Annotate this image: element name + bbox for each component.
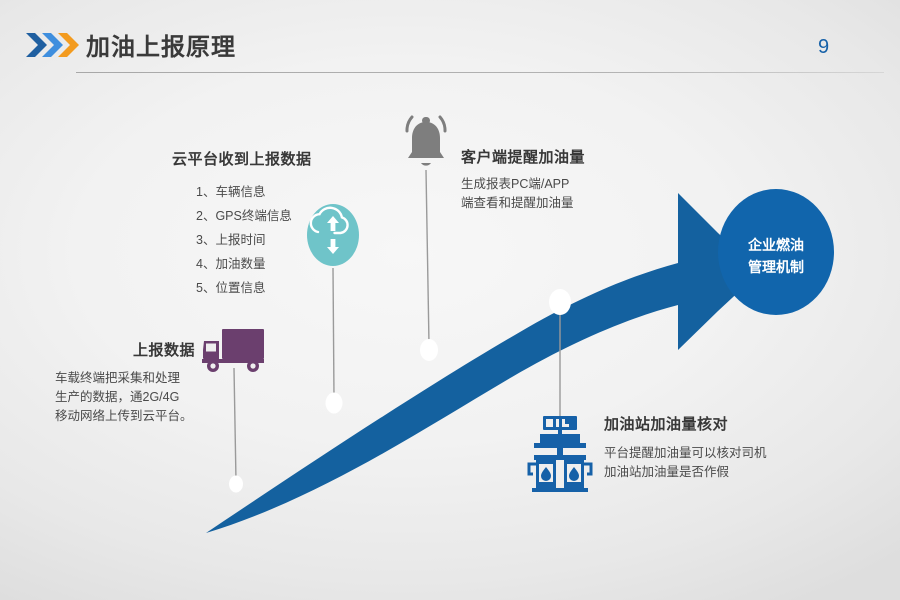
truck-icon	[202, 329, 264, 372]
node-dot-station	[549, 289, 571, 315]
connector-line-report	[234, 368, 236, 481]
bell-icon	[407, 117, 445, 166]
process-arrow-diagram	[0, 0, 900, 600]
station-body-line: 加油站加油量是否作假	[604, 463, 767, 482]
result-label-line-2: 管理机制	[726, 256, 826, 278]
client-body-line: 生成报表PC端/APP	[461, 175, 574, 194]
client-heading: 客户端提醒加油量	[461, 146, 585, 167]
cloud-item: 2、GPS终端信息	[196, 204, 292, 228]
cloud-item: 4、加油数量	[196, 252, 292, 276]
station-body: 平台提醒加油量可以核对司机 加油站加油量是否作假	[604, 444, 767, 482]
result-oval-label: 企业燃油 管理机制	[726, 234, 826, 278]
report-body-line: 生产的数据，通2G/4G	[55, 388, 193, 407]
cloud-item-list: 1、车辆信息 2、GPS终端信息 3、上报时间 4、加油数量 5、位置信息	[196, 180, 292, 300]
report-body-line: 车载终端把采集和处理	[55, 369, 193, 388]
station-heading: 加油站加油量核对	[604, 413, 728, 434]
node-dot-client	[420, 339, 438, 361]
report-heading: 上报数据	[133, 339, 195, 360]
node-dot-cloud	[326, 393, 343, 414]
report-body: 车载终端把采集和处理 生产的数据，通2G/4G 移动网络上传到云平台。	[55, 369, 193, 426]
cloud-item: 1、车辆信息	[196, 180, 292, 204]
connector-line-client	[426, 170, 429, 344]
report-body-line: 移动网络上传到云平台。	[55, 407, 193, 426]
client-body-line: 端查看和提醒加油量	[461, 194, 574, 213]
cloud-item: 5、位置信息	[196, 276, 292, 300]
connector-line-cloud	[333, 268, 334, 398]
station-body-line: 平台提醒加油量可以核对司机	[604, 444, 767, 463]
cloud-upload-download-icon	[307, 204, 359, 266]
result-label-line-1: 企业燃油	[726, 234, 826, 256]
slide-canvas: 加油上报原理 9	[0, 0, 900, 600]
cloud-heading: 云平台收到上报数据	[172, 148, 312, 169]
cloud-item: 3、上报时间	[196, 228, 292, 252]
gas-station-icon	[529, 416, 591, 492]
node-dot-report	[229, 476, 243, 493]
client-body: 生成报表PC端/APP 端查看和提醒加油量	[461, 175, 574, 213]
